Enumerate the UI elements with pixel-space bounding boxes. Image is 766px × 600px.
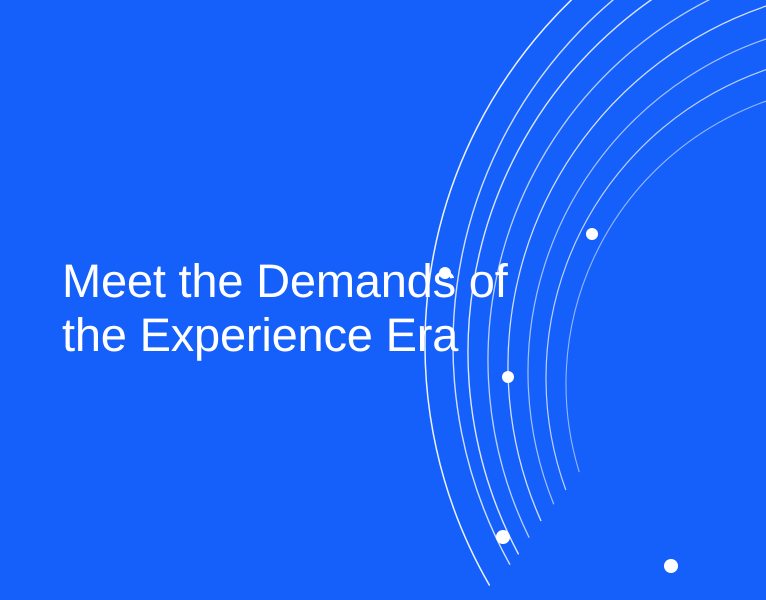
dot-lower-right bbox=[664, 559, 678, 573]
headline-line-1: Meet the Demands of bbox=[62, 254, 508, 308]
dot-lower-left bbox=[496, 530, 510, 544]
arc-6 bbox=[528, 20, 766, 504]
arc-7 bbox=[546, 52, 766, 490]
arc-8 bbox=[566, 84, 766, 472]
page-title: Meet the Demands ofthe Experience Era bbox=[62, 146, 508, 470]
headline-line-2: the Experience Era bbox=[62, 308, 508, 362]
dot-upper-right bbox=[586, 228, 598, 240]
presentation-slide: Meet the Demands ofthe Experience Era bbox=[0, 0, 766, 600]
arc-4 bbox=[488, 0, 766, 537]
arc-3 bbox=[468, 0, 766, 554]
